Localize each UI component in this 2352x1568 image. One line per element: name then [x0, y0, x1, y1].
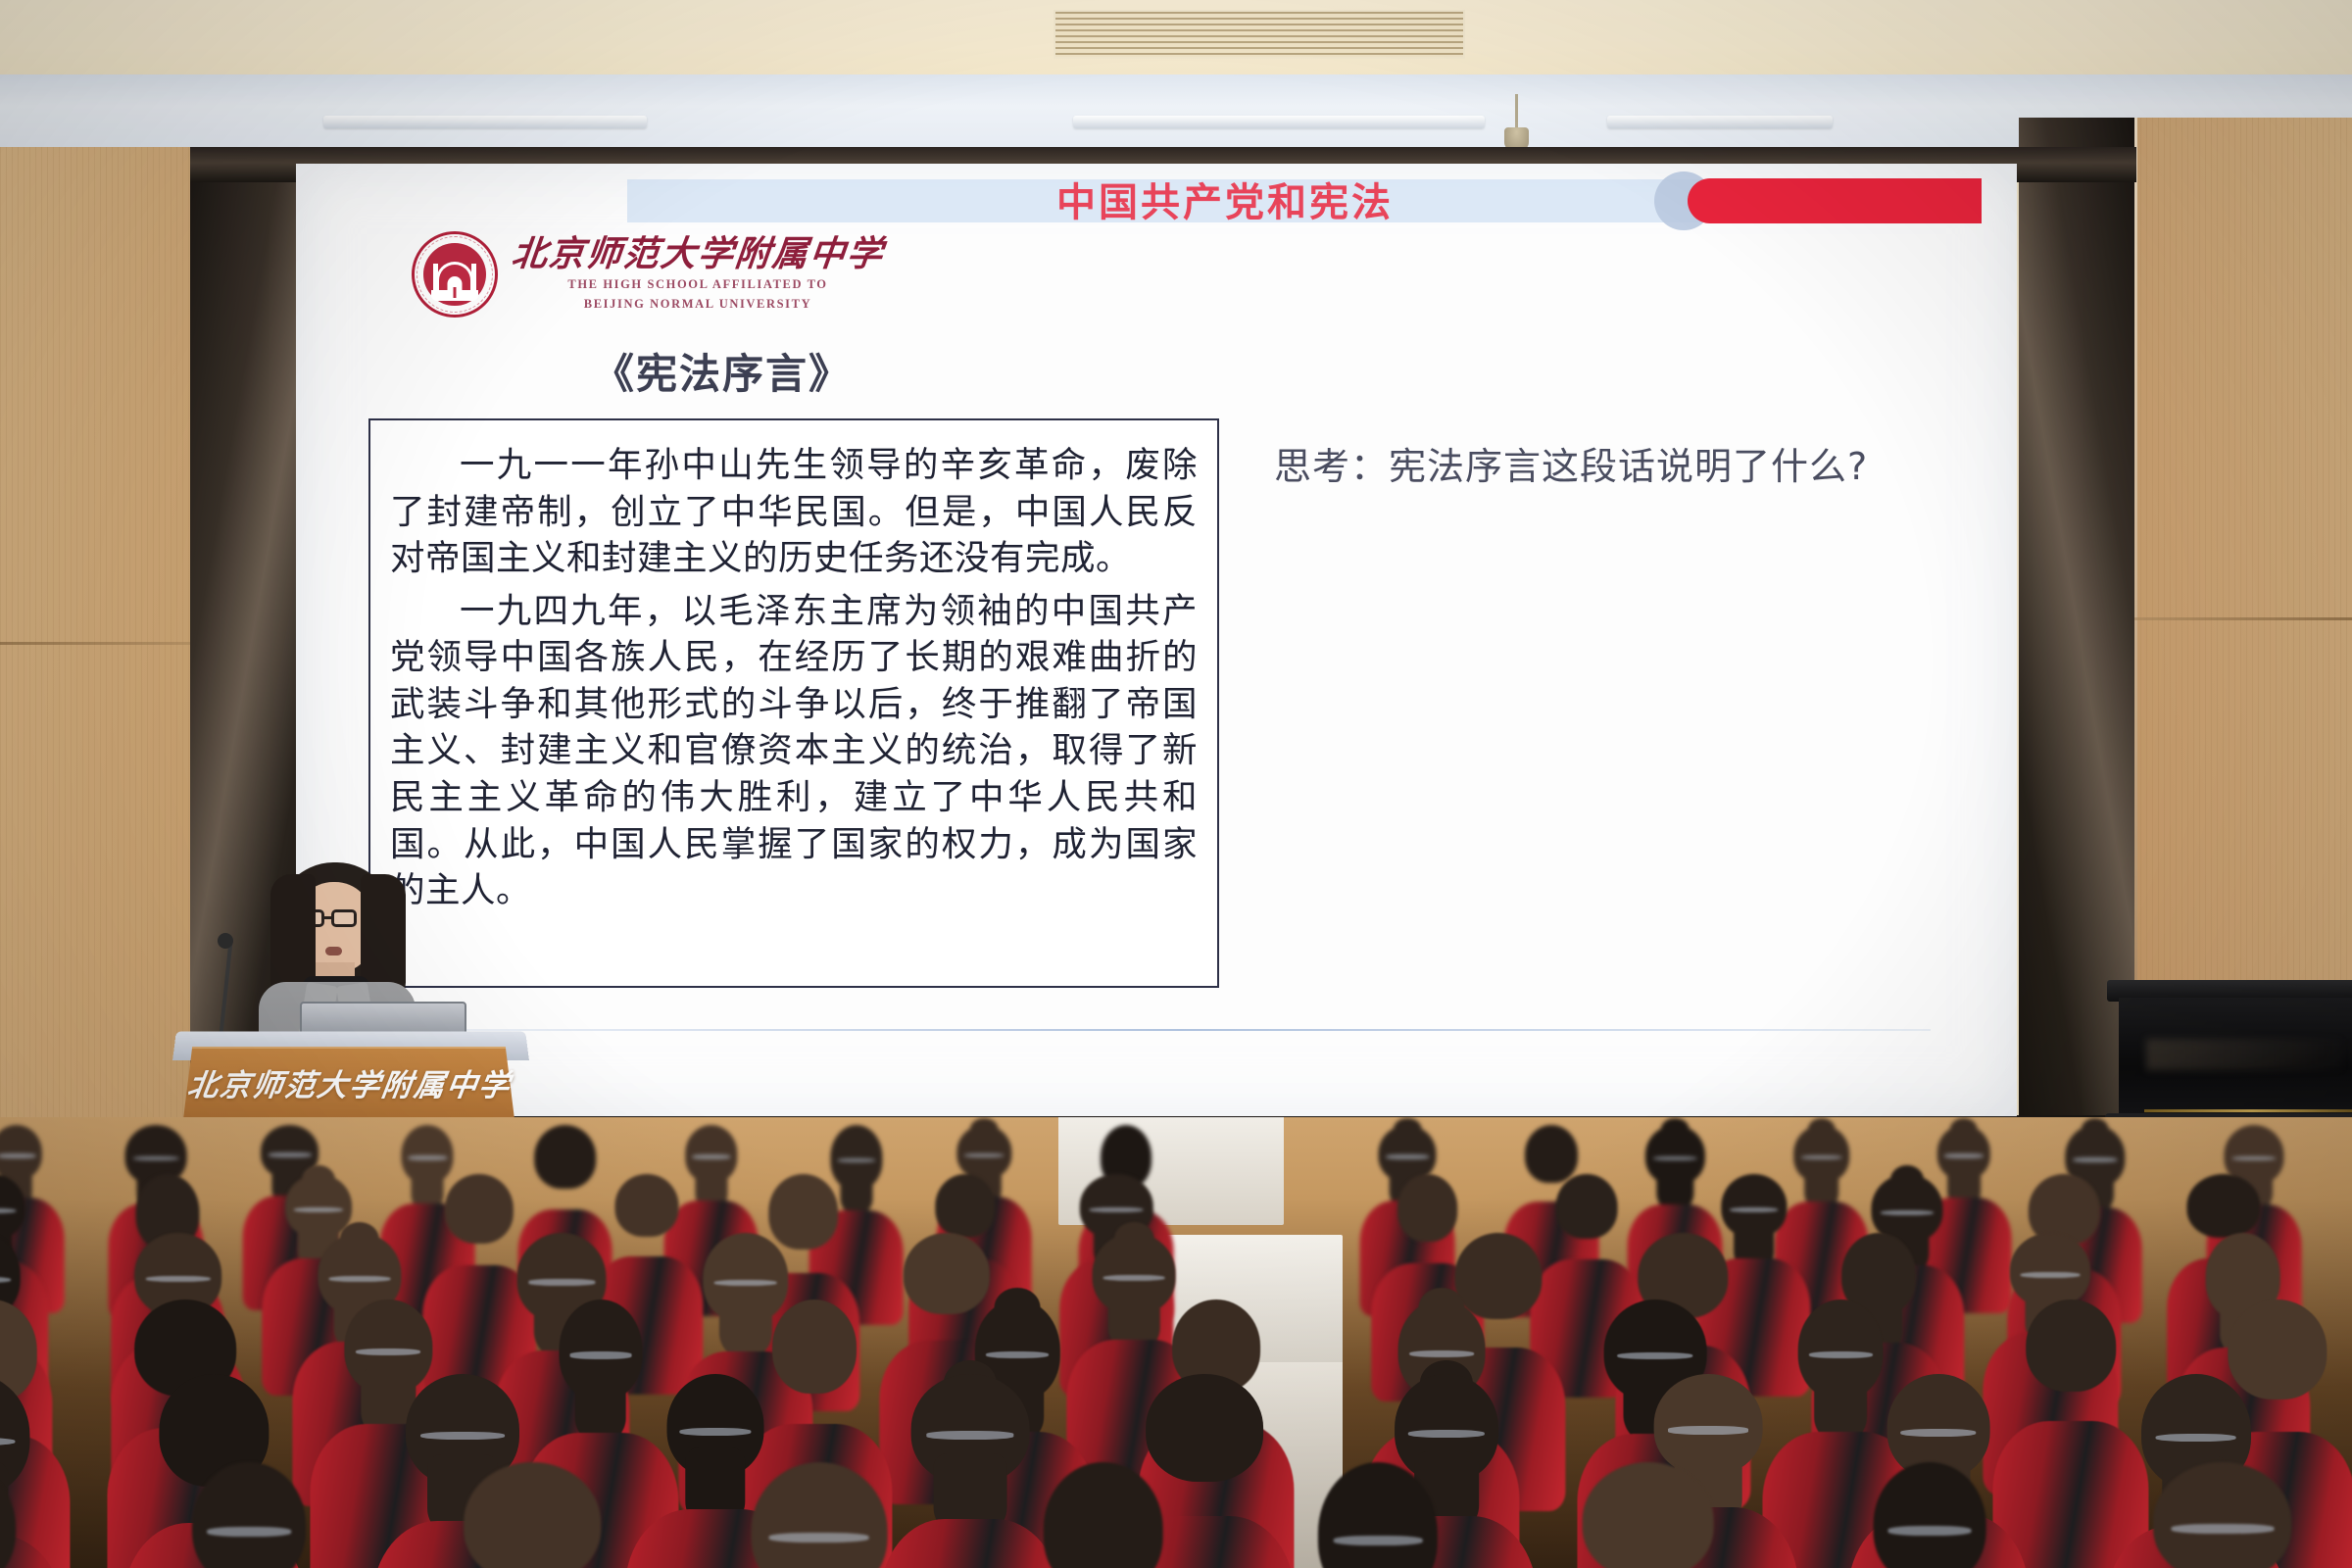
ceiling-light-strip	[1607, 116, 1833, 128]
slide-footer-rule	[431, 1029, 1931, 1031]
lecture-hall-photo: 中国共产党和宪法 北京师范大学附属中学 THE HIGH SCHOOL AFFI…	[0, 0, 2352, 1568]
school-name-en-line1: THE HIGH SCHOOL AFFILIATED TO	[512, 276, 884, 293]
microphone-icon	[218, 933, 233, 949]
audience-head	[0, 1462, 16, 1568]
audience-head	[935, 1174, 995, 1238]
audience-head	[2186, 1174, 2260, 1238]
school-seal-icon	[412, 231, 498, 318]
audience-member	[2141, 1462, 2304, 1568]
hair-tie	[1887, 1526, 1971, 1536]
hair-tie	[1730, 1207, 1779, 1212]
hair-tie	[986, 1351, 1049, 1358]
podium-school-name: 北京师范大学附属中学	[185, 1060, 514, 1104]
audience-head	[615, 1174, 679, 1237]
ponytail	[777, 1560, 861, 1568]
spotlight-fixture-icon	[1515, 94, 1518, 129]
audience-member	[1567, 1462, 1730, 1568]
audience-head	[2026, 1299, 2116, 1392]
hair-tie	[1334, 1536, 1422, 1545]
ponytail	[1341, 1564, 1415, 1568]
preamble-paragraph-2: 一九四九年，以毛泽东主席为领袖的中国共产党领导中国各族人民，在经历了长期的艰难曲…	[390, 588, 1198, 914]
audience-member	[2011, 1299, 2131, 1568]
audience-head	[464, 1462, 601, 1568]
hair-tie	[1409, 1350, 1474, 1357]
hair-tie	[926, 1431, 1013, 1439]
ponytail	[1894, 1551, 1964, 1568]
hair-tie	[768, 1533, 869, 1543]
audience-member	[901, 1374, 1040, 1568]
presenter-mouth	[325, 947, 342, 955]
hair-tie	[2155, 1434, 2236, 1442]
audience-member	[1022, 1462, 1185, 1568]
hair-tie	[1090, 1207, 1144, 1212]
hair-tie	[328, 1276, 390, 1282]
audience-member	[168, 1462, 330, 1568]
ceiling-light-strip	[323, 116, 647, 128]
preamble-paragraph-1: 一九一一年孙中山先生领导的辛亥革命，废除了封建帝制，创立了中华民国。但是，中国人…	[390, 442, 1198, 582]
audience-head	[445, 1174, 514, 1244]
audience-member	[451, 1462, 613, 1568]
hair-tie	[294, 1207, 343, 1212]
audience-member	[738, 1462, 901, 1568]
header-accent-bar	[1688, 178, 1982, 223]
hair-tie	[1408, 1430, 1485, 1438]
school-name-en-line2: BEIJING NORMAL UNIVERSITY	[512, 296, 884, 313]
school-logo-text: 北京师范大学附属中学 THE HIGH SCHOOL AFFILIATED TO…	[512, 236, 884, 313]
audience-head	[772, 1299, 857, 1394]
hair-tie	[2021, 1272, 2081, 1278]
glasses-bridge	[324, 916, 331, 919]
audience-head	[1318, 1462, 1438, 1568]
ponytail	[214, 1552, 284, 1568]
school-logo: 北京师范大学附属中学 THE HIGH SCHOOL AFFILIATED TO…	[412, 231, 884, 318]
screen-frame-right	[2019, 118, 2134, 1269]
hair-tie	[145, 1276, 210, 1282]
audience-head	[534, 1125, 597, 1189]
hair-tie	[713, 1280, 777, 1286]
discussion-question: 思考：宪法序言这段话说明了什么?	[1274, 441, 1882, 494]
hair-tie	[420, 1432, 505, 1440]
hair-tie	[1881, 1210, 1934, 1215]
seal-book	[431, 290, 478, 301]
hair-tie	[1900, 1429, 1977, 1437]
hair-tie	[679, 1428, 751, 1436]
glasses-icon	[331, 909, 357, 927]
hair-tie	[356, 1348, 420, 1355]
slide-title: 中国共产党和宪法	[1056, 182, 1566, 223]
hair-tie	[1668, 1426, 1748, 1434]
slide-subtitle: 《宪法序言》	[593, 341, 852, 401]
school-name-cn: 北京师范大学附属中学	[510, 236, 886, 273]
hair-tie	[207, 1527, 291, 1537]
hair-tie	[1617, 1352, 1693, 1359]
piano-trim	[2144, 1109, 2352, 1112]
audience-head	[1582, 1462, 1714, 1568]
piano-reflection	[2146, 1039, 2342, 1070]
audience-head	[751, 1462, 887, 1568]
audience-member	[1297, 1462, 1459, 1568]
audience	[0, 1117, 2352, 1568]
ponytail	[2180, 1547, 2266, 1568]
air-vent-grille-icon	[1053, 10, 1465, 59]
hair-tie	[1809, 1351, 1872, 1358]
hair-tie	[2171, 1524, 2274, 1534]
audience-member	[1848, 1462, 2011, 1568]
audience-head	[1397, 1174, 1458, 1242]
ceiling-light-strip	[1073, 116, 1485, 128]
hair-tie	[1103, 1275, 1165, 1281]
audience-member	[0, 1462, 34, 1568]
constitution-preamble-box: 一九一一年孙中山先生领导的辛亥革命，废除了封建帝制，创立了中华民国。但是，中国人…	[368, 418, 1219, 988]
audience-head	[1043, 1462, 1163, 1568]
hair-tie	[569, 1351, 631, 1358]
audience-head	[1556, 1174, 1618, 1239]
hair-tie	[529, 1279, 595, 1285]
